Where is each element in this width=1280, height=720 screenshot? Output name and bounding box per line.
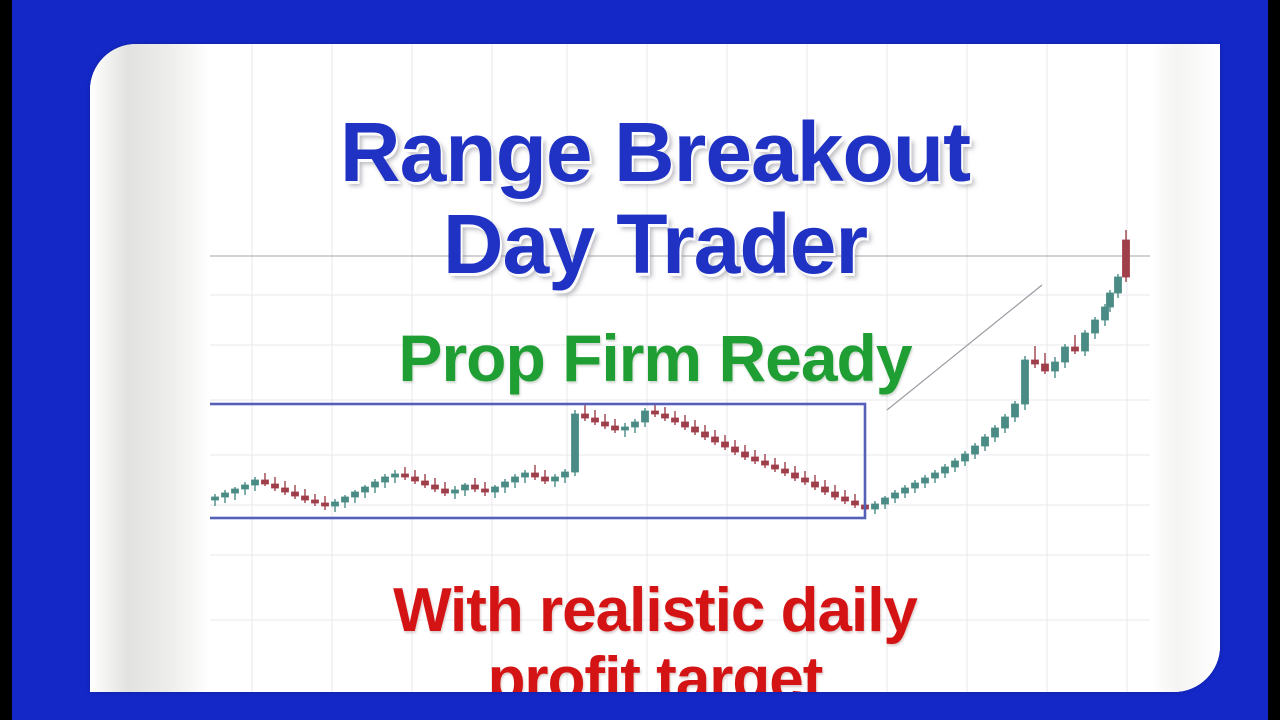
thumbnail-canvas: Range Breakout Day Trader Prop Firm Read…	[0, 0, 1280, 720]
content-panel: Range Breakout Day Trader Prop Firm Read…	[90, 44, 1220, 692]
blue-border-frame: Range Breakout Day Trader Prop Firm Read…	[12, 0, 1268, 720]
headline-line-1: Range Breakout	[90, 110, 1220, 194]
tagline-line-2: profit target	[90, 649, 1220, 692]
subtitle-prop-firm-ready: Prop Firm Ready	[90, 325, 1220, 391]
tagline-line-1: With realistic daily	[90, 580, 1220, 642]
headline-line-2: Day Trader	[90, 202, 1220, 286]
